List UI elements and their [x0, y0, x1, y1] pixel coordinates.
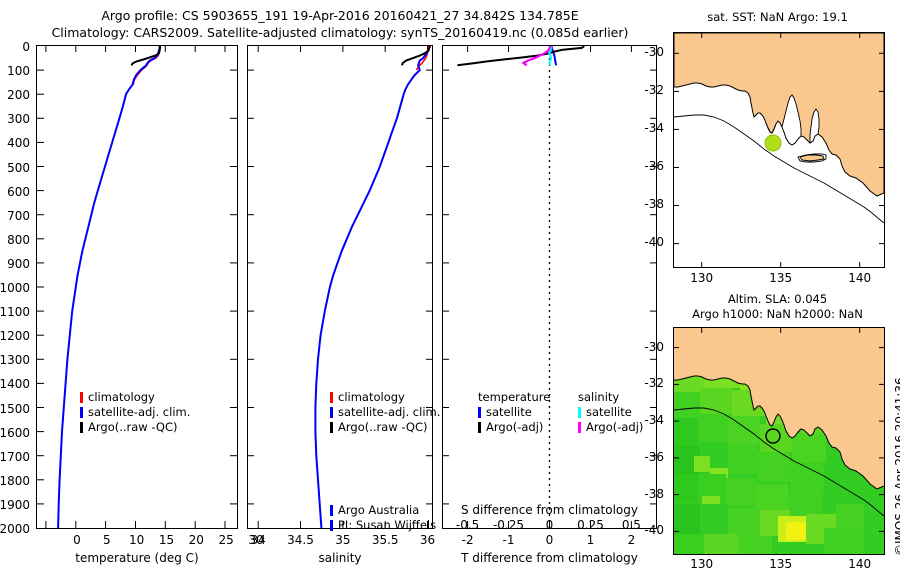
salinity-satellite-adjusted-curve — [315, 46, 430, 528]
legend-swatch-salinity-satellite — [578, 407, 581, 418]
legend-label: climatology — [338, 390, 405, 405]
legend-swatch-satellite-adj — [80, 407, 83, 418]
legend-item: climatology — [80, 390, 190, 405]
sla-map-title-line1: Altim. SLA: 0.045 — [665, 292, 890, 306]
legend-swatch-satellite-adj — [330, 407, 333, 418]
legend-swatch-temperature-argo — [478, 422, 481, 433]
legend-label: satellite-adj. clim. — [88, 405, 190, 420]
legend-swatch-climatology — [330, 392, 333, 403]
legend-item: satellite — [578, 405, 643, 420]
salinity-plot — [248, 46, 432, 528]
argo-credit: Argo Australia PI: Susan Wijffels — [330, 503, 436, 533]
legend-header-label: salinity — [578, 390, 619, 405]
legend-item: satellite-adj. clim. — [80, 405, 190, 420]
legend-item: Argo(-adj) — [578, 420, 643, 435]
legend-label: satellite — [586, 405, 632, 420]
credit-pi: PI: Susan Wijffels — [338, 518, 436, 533]
figure-title-line1: Argo profile: CS 5903655_191 19-Apr-2016… — [35, 8, 645, 23]
legend-label: Argo(..raw -QC) — [88, 420, 178, 435]
legend-header: temperature — [478, 390, 550, 405]
copyright-notice: ©IMOS 26-Apr-2016 20:41:36 — [893, 377, 900, 556]
salinity-axis-label: salinity — [247, 551, 433, 565]
temperature-axis-label: temperature (deg C) — [36, 551, 238, 565]
difference-legend-salinity: salinity satellite Argo(-adj) — [578, 390, 643, 435]
legend-swatch-climatology — [80, 392, 83, 403]
salinity-depth-ticks — [248, 70, 432, 504]
t-difference-axis-label: T difference from climatology — [442, 551, 657, 565]
temperature-depth-ticks — [37, 70, 237, 504]
legend-label: satellite-adj. clim. — [338, 405, 440, 420]
temperature-satellite-adjusted-curve — [58, 46, 160, 528]
difference-legend-temperature: temperature satellite Argo(-adj) — [478, 390, 550, 435]
legend-label: Argo(-adj) — [586, 420, 643, 435]
figure-title-line2: Climatology: CARS2009. Satellite-adjuste… — [35, 25, 645, 40]
sst-map-title: sat. SST: NaN Argo: 19.1 — [665, 10, 890, 24]
legend-item: satellite — [478, 405, 550, 420]
credit-line: Argo Australia — [330, 503, 436, 518]
temperature-legend: climatology satellite-adj. clim. Argo(..… — [80, 390, 190, 435]
credit-program: Argo Australia — [338, 503, 419, 518]
legend-item: Argo(..raw -QC) — [80, 420, 190, 435]
legend-label: Argo(..raw -QC) — [338, 420, 428, 435]
difference-profile-panel — [442, 45, 657, 529]
temperature-plot — [37, 46, 237, 528]
salinity-profile-panel — [247, 45, 433, 529]
credit-swatch — [330, 520, 333, 531]
credit-line: PI: Susan Wijffels — [330, 518, 436, 533]
temperature-xaxis-ticks — [46, 46, 225, 528]
salinity-xaxis-ticks — [258, 46, 427, 528]
legend-label: climatology — [88, 390, 155, 405]
legend-label: satellite — [486, 405, 532, 420]
credit-swatch — [330, 505, 333, 516]
difference-temperature-argo-curve — [457, 46, 584, 65]
legend-label: Argo(-adj) — [486, 420, 543, 435]
salinity-legend: climatology satellite-adj. clim. Argo(..… — [330, 390, 440, 435]
legend-item: satellite-adj. clim. — [330, 405, 440, 420]
legend-swatch-salinity-argo — [578, 422, 581, 433]
s-difference-axis-label: S difference from climatology — [442, 503, 657, 517]
sla-map-title-line2: Argo h1000: NaN h2000: NaN — [665, 307, 890, 321]
legend-item: Argo(..raw -QC) — [330, 420, 440, 435]
sst-map — [674, 33, 884, 267]
sst-map-panel — [673, 32, 885, 268]
sla-map — [674, 328, 884, 554]
legend-header: salinity — [578, 390, 643, 405]
legend-swatch-temperature-satellite — [478, 407, 481, 418]
legend-item: climatology — [330, 390, 440, 405]
sla-map-panel — [673, 327, 885, 555]
legend-item: Argo(-adj) — [478, 420, 550, 435]
difference-plot — [443, 46, 656, 528]
legend-swatch-argo — [80, 422, 83, 433]
temperature-profile-panel — [36, 45, 238, 529]
argo-float-marker — [765, 135, 781, 151]
difference-temperature-satellite-curve — [552, 46, 557, 65]
legend-swatch-argo — [330, 422, 333, 433]
legend-header-label: temperature — [478, 390, 550, 405]
